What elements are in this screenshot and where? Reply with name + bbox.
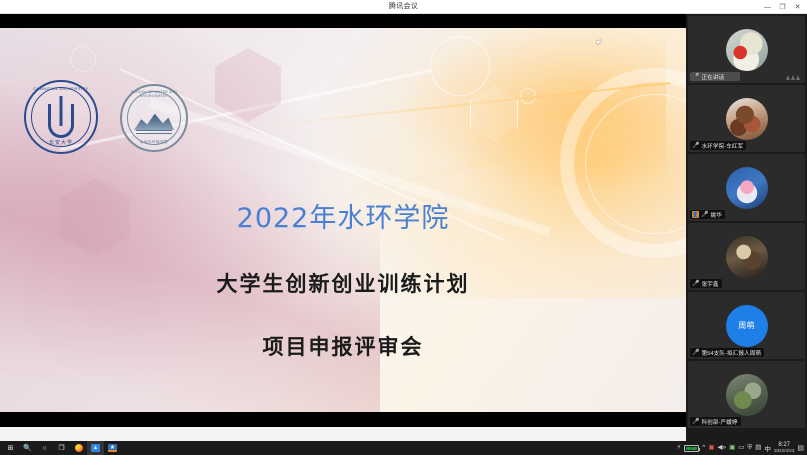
window-controls: — ❐ ✕	[760, 0, 805, 14]
participant-badge: 🎤 科创部-严媛婷	[690, 417, 741, 426]
participant-tile[interactable]: 周萌 🎤 第54支队-拟汇报人周萌	[688, 292, 805, 359]
slide-title: 2022年水环学院	[0, 196, 686, 235]
cortana-icon[interactable]: ○	[36, 441, 53, 455]
pinned-app-icon[interactable]: ★	[104, 441, 121, 455]
close-button[interactable]: ✕	[790, 0, 805, 14]
tencent-meeting-window: 腾讯会议 — ❐ ✕	[0, 0, 807, 441]
mic-muted-icon: 🎤	[692, 281, 699, 287]
mic-muted-icon: 🎤	[692, 419, 699, 425]
slide-subtitle-2: 项目申报评审会	[0, 331, 686, 361]
logo-mast-mark	[60, 96, 63, 126]
logo-en-text: CHANG'AN UNIVERSITY	[26, 86, 96, 91]
keyboard-icon[interactable]: ▤	[755, 445, 761, 452]
avatar	[726, 374, 768, 416]
speaking-indicator-icon	[786, 75, 800, 80]
decor-circle-2	[430, 36, 490, 96]
participant-name: 正在讲话	[701, 73, 724, 81]
system-tray: ⚡ 100% ^ ▣ ◀» ▣ ▭ ⛨ ▤ 中 8:27 2022/4/23 ▤	[677, 442, 807, 454]
restore-button[interactable]: ❐	[775, 0, 790, 14]
participant-badge: 🎤 张宇鑫	[690, 279, 722, 288]
windows-taskbar[interactable]: ⊞ 🔍 ○ ❐ ▲ ★ ⚡ 100% ^ ▣ ◀» ▣ ▭ ⛨ ▤ 中 8:27…	[0, 441, 807, 455]
avatar	[726, 98, 768, 140]
logo-cn-text: 水利与环境学院	[122, 140, 186, 145]
window-title: 腾讯会议	[0, 0, 807, 14]
firefox-app-icon[interactable]	[70, 441, 87, 455]
bluetooth-icon[interactable]: ▭	[738, 445, 744, 452]
battery-percent-label: 100%	[685, 446, 698, 451]
participant-badge: 🎤 水环学院-车红军	[690, 141, 746, 150]
start-button-icon[interactable]: ⊞	[2, 441, 19, 455]
chevron-up-icon[interactable]: ^	[702, 445, 705, 452]
power-plug-icon[interactable]: ⚡	[677, 445, 682, 452]
school-of-water-environment-logo: SCHOOL OF WATER AND ENVIRONMENT 水利与环境学院	[120, 84, 188, 152]
taskbar-left-group: ⊞ 🔍 ○ ❐ ▲ ★	[0, 441, 121, 455]
participant-name: 第54支队-拟汇报人周萌	[701, 349, 761, 357]
clock-date: 2022/4/23	[774, 448, 794, 454]
title-bar: 腾讯会议 — ❐ ✕	[0, 0, 807, 14]
network-icon[interactable]: ▣	[729, 445, 735, 452]
mic-muted-icon: 🎤	[692, 143, 699, 149]
logo-en-text: SCHOOL OF WATER AND ENVIRONMENT	[122, 90, 186, 98]
participant-badge: 🎤 正在讲话	[690, 72, 740, 81]
mic-muted-icon: 🎤	[701, 212, 708, 218]
shield-icon[interactable]: ⛨	[747, 445, 752, 452]
ime-language-indicator[interactable]: 中	[764, 443, 771, 453]
avatar	[726, 236, 768, 278]
search-icon[interactable]: 🔍	[19, 441, 36, 455]
participant-sidebar[interactable]: 🎤 正在讲话 🎤 水环学院-车红军 👤 🎤 姚华 🎤 张	[686, 14, 807, 441]
task-view-icon[interactable]: ❐	[53, 441, 70, 455]
participant-name: 科创部-严媛婷	[701, 418, 737, 426]
mic-muted-icon: 🎤	[692, 74, 699, 80]
shared-screen-stage[interactable]: CHANG'AN UNIVERSITY 长安大学 SCHOOL OF WATER…	[0, 14, 686, 427]
participant-name: 张宇鑫	[701, 280, 718, 288]
avatar-initials: 周萌	[726, 305, 768, 347]
notification-center-icon[interactable]: ▤	[797, 444, 804, 452]
onedrive-icon[interactable]: ▣	[708, 445, 714, 452]
participant-tile[interactable]: 🎤 水环学院-车红军	[688, 85, 805, 152]
slide-subtitle-1: 大学生创新创业训练计划	[0, 268, 686, 298]
minimize-button[interactable]: —	[760, 0, 775, 14]
participant-badge: 🎤 第54支队-拟汇报人周萌	[690, 348, 764, 357]
avatar	[726, 167, 768, 209]
volume-icon[interactable]: ◀»	[717, 445, 726, 452]
logo-water-mark	[136, 130, 172, 136]
participant-badge: 👤 🎤 姚华	[690, 210, 725, 219]
mic-muted-icon: 🎤	[692, 350, 699, 356]
host-badge-icon: 👤	[692, 211, 699, 218]
participant-tile[interactable]: 🎤 正在讲话	[688, 16, 805, 83]
avatar	[726, 29, 768, 71]
participant-name: 姚华	[710, 211, 721, 219]
presentation-slide: CHANG'AN UNIVERSITY 长安大学 SCHOOL OF WATER…	[0, 28, 686, 412]
participant-name: 水环学院-车红军	[701, 142, 743, 150]
participant-tile[interactable]: 🎤 科创部-严媛婷	[688, 361, 805, 428]
logo-cn-text: 长安大学	[26, 139, 96, 146]
participant-tile[interactable]: 👤 🎤 姚华	[688, 154, 805, 221]
taskbar-clock[interactable]: 8:27 2022/4/23	[774, 442, 794, 454]
decor-circle-1	[70, 46, 96, 72]
battery-icon[interactable]: 100%	[684, 445, 699, 452]
changan-university-logo: CHANG'AN UNIVERSITY 长安大学	[24, 80, 98, 154]
participant-tile[interactable]: 🎤 张宇鑫	[688, 223, 805, 290]
tencent-meeting-app-icon[interactable]: ▲	[87, 441, 104, 455]
